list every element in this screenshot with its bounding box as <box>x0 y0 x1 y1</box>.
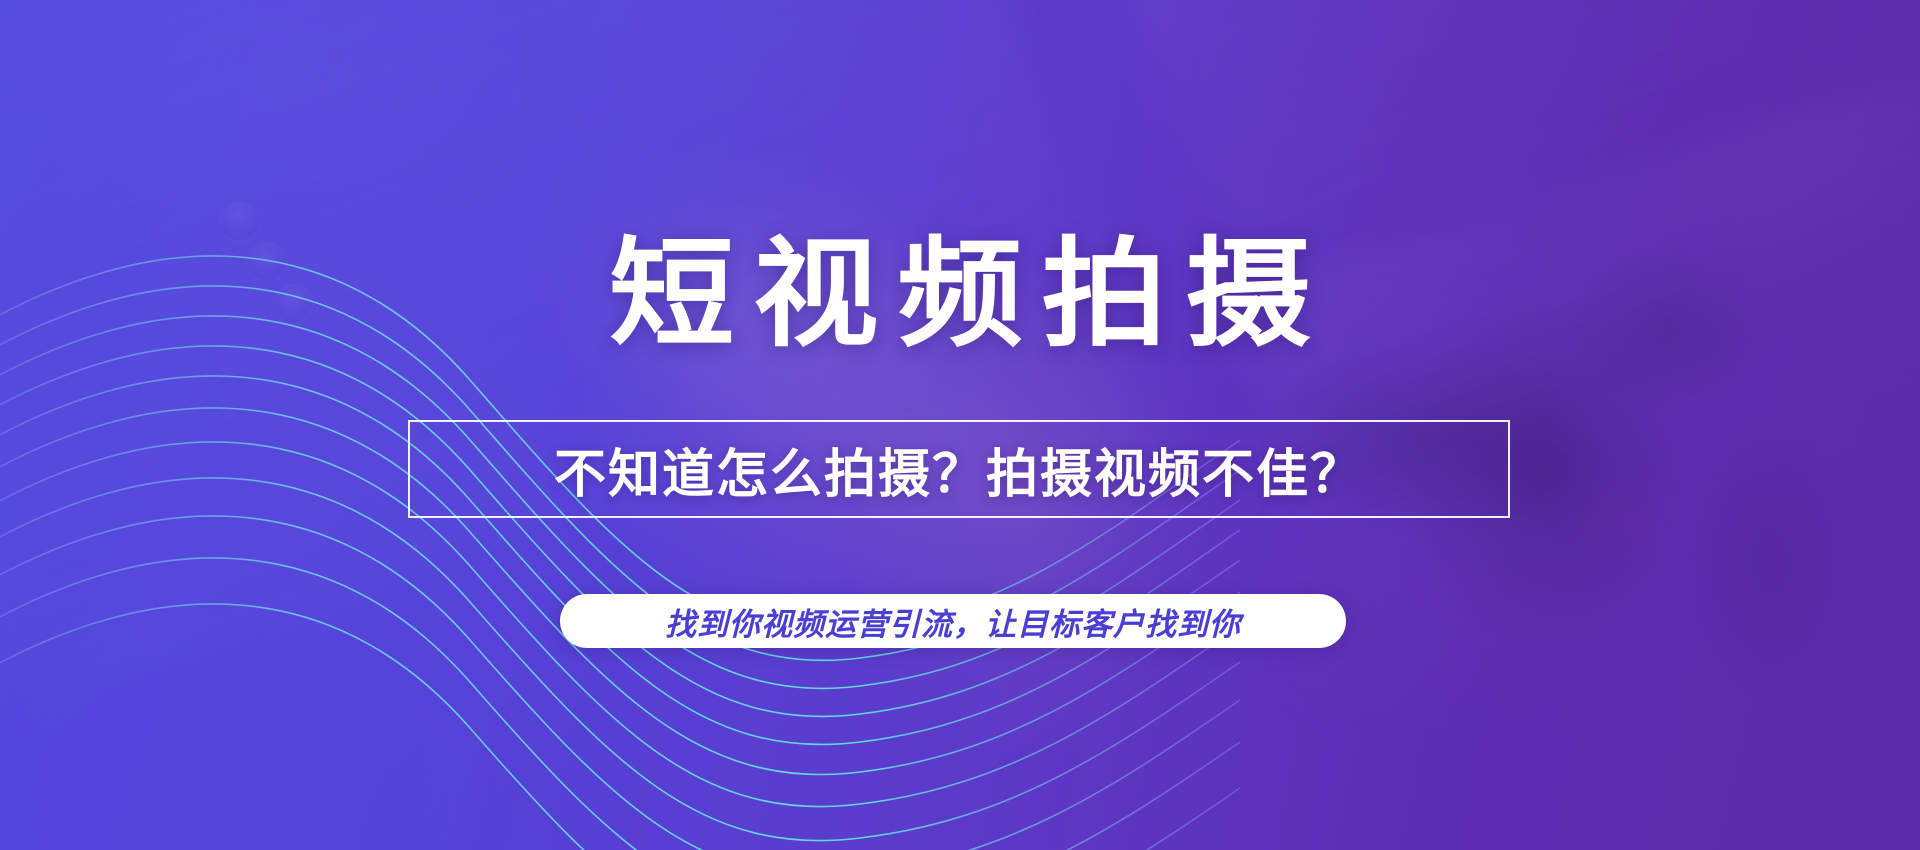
cta-pill-label: 找到你视频运营引流，让目标客户找到你 <box>665 599 1241 644</box>
subtitle-box: 不知道怎么拍摄？拍摄视频不佳？ <box>408 420 1510 518</box>
promo-banner: 短视频拍摄 不知道怎么拍摄？拍摄视频不佳？ 找到你视频运营引流，让目标客户找到你 <box>0 0 1920 850</box>
banner-content: 短视频拍摄 不知道怎么拍摄？拍摄视频不佳？ 找到你视频运营引流，让目标客户找到你 <box>0 0 1920 850</box>
cta-pill-button[interactable]: 找到你视频运营引流，让目标客户找到你 <box>560 594 1346 648</box>
subtitle-text: 不知道怎么拍摄？拍摄视频不佳？ <box>554 432 1364 507</box>
page-title: 短视频拍摄 <box>0 236 1920 354</box>
